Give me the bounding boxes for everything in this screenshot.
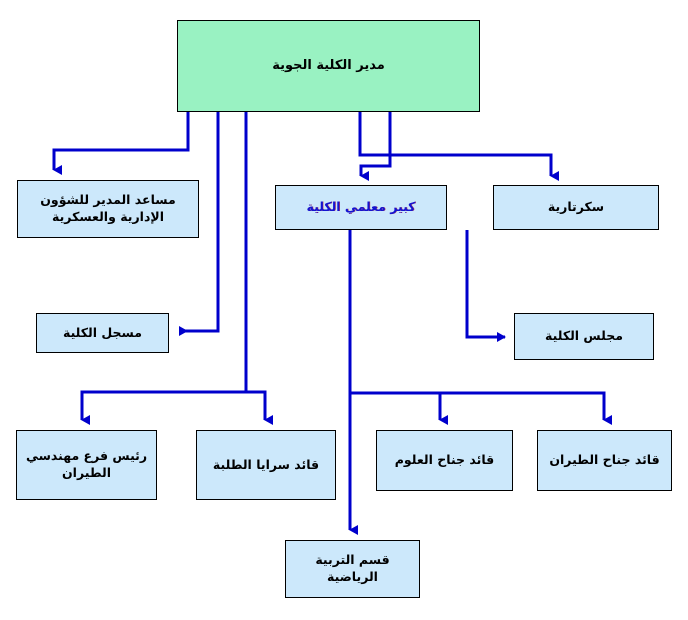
node-aviation-engineers-head[interactable]: رئيس فرع مهندسي الطيران xyxy=(16,430,157,500)
node-aviation-engineers-head-label: رئيس فرع مهندسي الطيران xyxy=(21,448,152,482)
node-student-companies-commander-label: قائد سرايا الطلبة xyxy=(201,457,331,474)
edge-right-bar-to-aviation-wing xyxy=(440,393,604,420)
node-chief-instructor-label: كبير معلمي الكلية xyxy=(280,199,442,216)
node-secretariat[interactable]: سكرتارية xyxy=(493,185,659,230)
node-chief-instructor[interactable]: كبير معلمي الكلية xyxy=(275,185,447,230)
node-director[interactable]: مدير الكلية الجوية xyxy=(177,20,480,112)
node-director-label: مدير الكلية الجوية xyxy=(182,57,475,75)
edge-chief-instructor-to-right-bar xyxy=(350,230,440,420)
node-student-companies-commander[interactable]: قائد سرايا الطلبة xyxy=(196,430,336,500)
node-physical-education-dept-label: قسم التربية الرياضية xyxy=(290,552,415,586)
node-assistant-director-label: مساعد المدير للشؤون الإدارية والعسكرية xyxy=(22,192,194,226)
node-assistant-director[interactable]: مساعد المدير للشؤون الإدارية والعسكرية xyxy=(17,180,199,238)
node-secretariat-label: سكرتارية xyxy=(498,199,654,216)
node-aviation-wing-commander[interactable]: قائد جناح الطيران xyxy=(537,430,672,491)
node-physical-education-dept[interactable]: قسم التربية الرياضية xyxy=(285,540,420,598)
edge-director-to-assistant-director xyxy=(54,112,188,170)
edge-director-to-chief-instructor xyxy=(361,112,390,176)
edge-director-to-lower-bar xyxy=(82,112,246,420)
node-aviation-wing-commander-label: قائد جناح الطيران xyxy=(542,452,667,469)
edge-director-to-secretariat xyxy=(360,112,551,176)
edge-chief-instructor-to-college-council xyxy=(467,230,505,337)
org-chart-canvas: مدير الكلية الجوية مساعد المدير للشؤون ا… xyxy=(0,0,688,620)
node-science-wing-commander-label: قائد جناح العلوم xyxy=(381,452,508,469)
node-college-council[interactable]: مجلس الكلية xyxy=(514,313,654,360)
node-science-wing-commander[interactable]: قائد جناح العلوم xyxy=(376,430,513,491)
node-registrar[interactable]: مسجل الكلية xyxy=(36,313,169,353)
edge-lower-bar-to-student-companies xyxy=(246,392,265,420)
node-registrar-label: مسجل الكلية xyxy=(41,325,164,342)
node-college-council-label: مجلس الكلية xyxy=(519,328,649,345)
